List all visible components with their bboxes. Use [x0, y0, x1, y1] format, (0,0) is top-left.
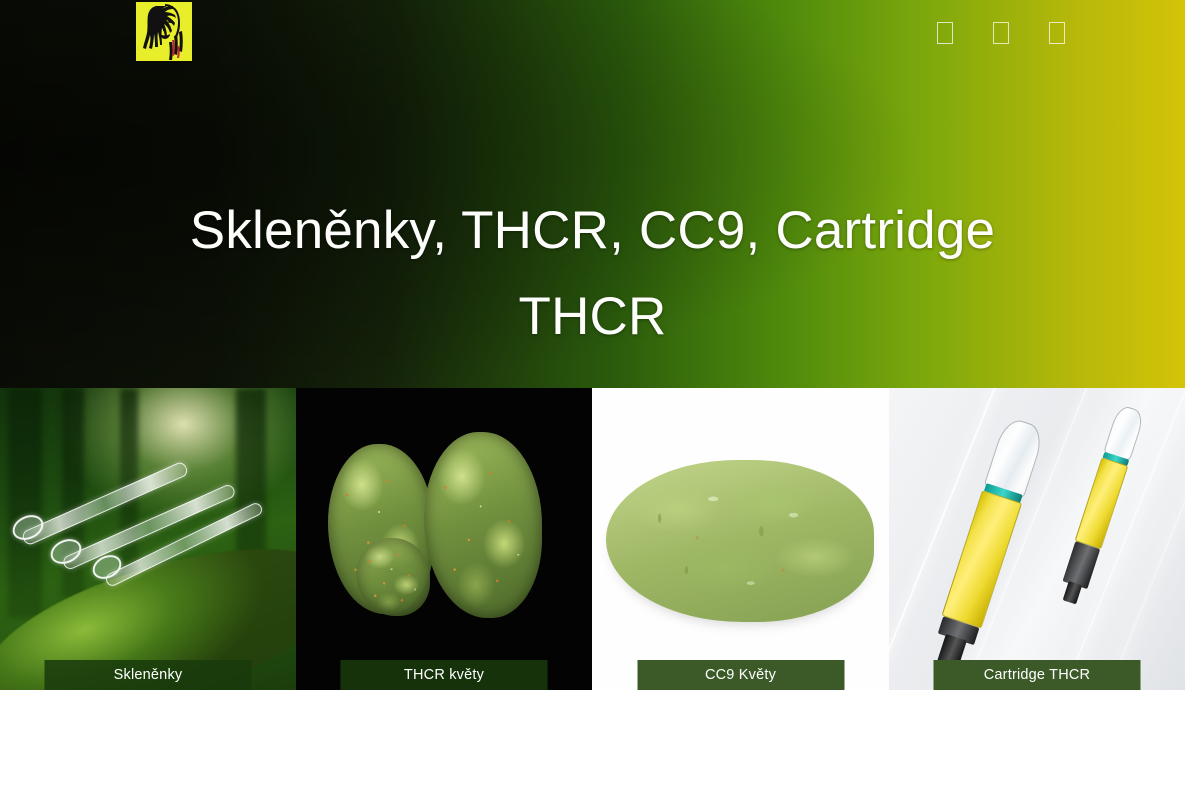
page-title-line-2: THCR — [0, 274, 1185, 360]
site-header — [0, 0, 1185, 66]
bob-marley-logo[interactable] — [136, 2, 192, 61]
page-title: Skleněnky, THCR, CC9, Cartridge THCR — [0, 188, 1185, 360]
site-footer: Kamenná prodejna Kamenná prodejna v Ostr… — [0, 690, 1200, 800]
glass-pipes-on-mossy-log-image — [0, 388, 296, 690]
missing-glyph-icon-1[interactable] — [937, 22, 953, 44]
category-card-label[interactable]: CC9 Květy — [637, 660, 844, 690]
category-card-label[interactable]: THCR květy — [341, 660, 548, 690]
hero-banner: Skleněnky, THCR, CC9, Cartridge THCR — [0, 0, 1185, 388]
category-cards: Skleněnky THCR květy CC9 Květy — [0, 388, 1185, 690]
category-card-cc9-kvety[interactable]: CC9 Květy — [592, 388, 889, 690]
dried-green-herb-on-white-image — [592, 388, 889, 690]
missing-glyph-icon-2[interactable] — [993, 22, 1009, 44]
yellow-vape-cartridges-image — [889, 388, 1185, 690]
header-nav-icons — [937, 0, 1065, 66]
category-card-cartridge-thcr[interactable]: Cartridge THCR — [889, 388, 1185, 690]
page-root: Skleněnky, THCR, CC9, Cartridge THCR Skl… — [0, 0, 1200, 800]
missing-glyph-icon-3[interactable] — [1049, 22, 1065, 44]
cannabis-buds-on-black-image — [296, 388, 592, 690]
category-card-sklenenky[interactable]: Skleněnky — [0, 388, 296, 690]
category-card-label[interactable]: Skleněnky — [45, 660, 252, 690]
page-title-line-1: Skleněnky, THCR, CC9, Cartridge — [0, 188, 1185, 274]
category-card-label[interactable]: Cartridge THCR — [934, 660, 1141, 690]
category-card-thcr-kvety[interactable]: THCR květy — [296, 388, 592, 690]
